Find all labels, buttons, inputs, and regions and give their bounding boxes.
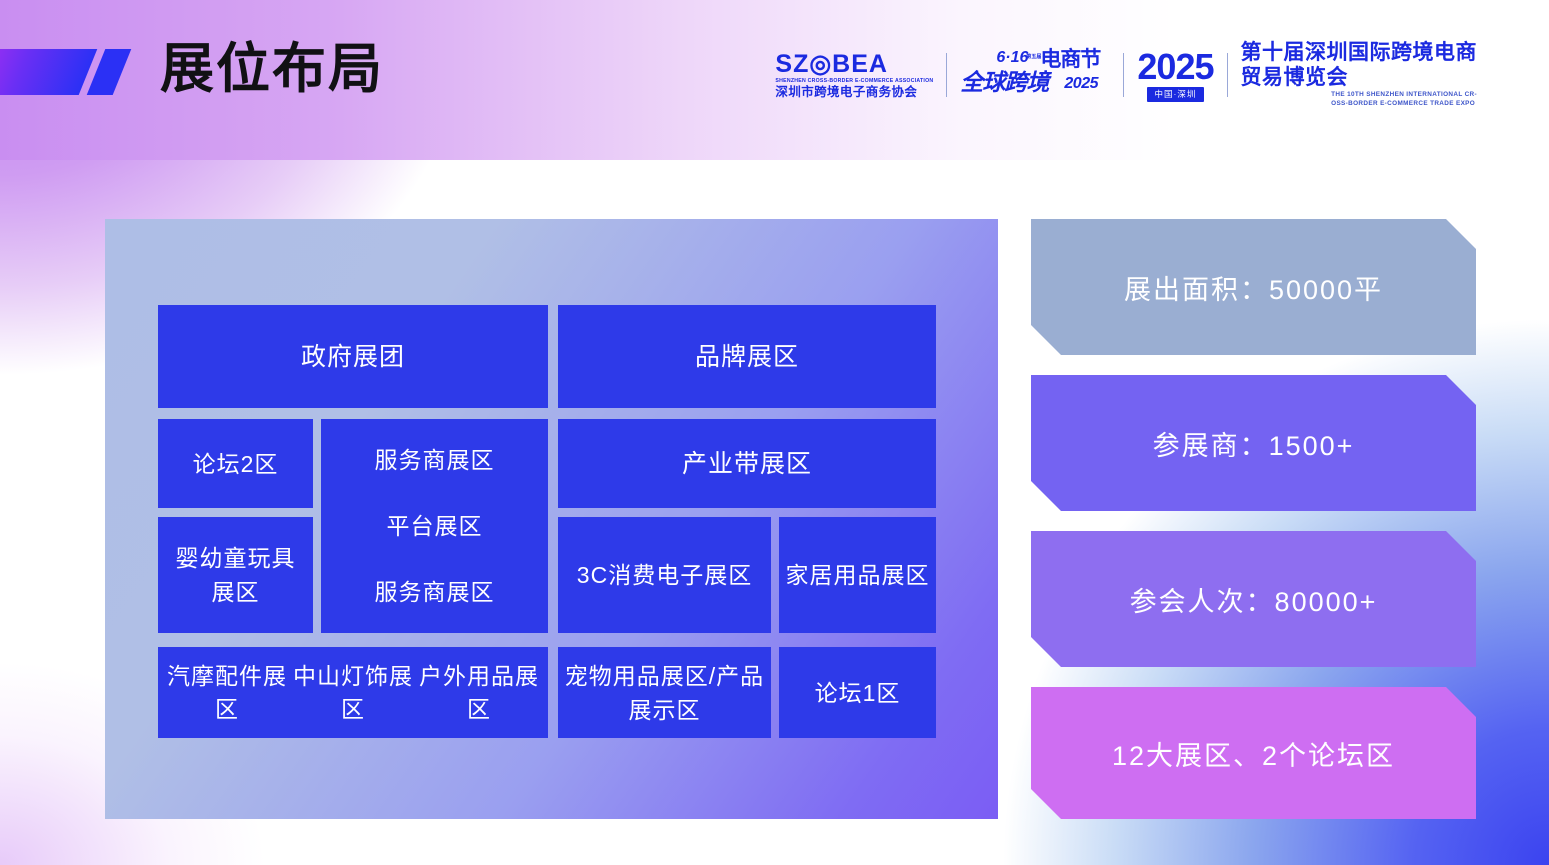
szbea-chinese: 深圳市跨境电子商务协会 — [775, 85, 933, 100]
festival-small-text: 第五届 — [1026, 54, 1041, 60]
zone-label: 论坛2区 — [193, 447, 279, 481]
zone-label: 论坛1区 — [815, 676, 901, 710]
slide-canvas: 展位布局 SZ◎BEA SHENZHEN CROSS-BORDER E-COMM… — [0, 0, 1549, 865]
expo-en-line2: OSS-BORDER E-COMMERCE TRADE EXPO — [1331, 99, 1477, 109]
zone-service-platform[interactable]: 服务商展区 平台展区 服务商展区 — [321, 419, 548, 633]
zone-label-2: 平台展区 — [387, 509, 483, 543]
zone-label: 品牌展区 — [695, 340, 799, 374]
stat-card-label: 12大展区、2个论坛区 — [1112, 734, 1395, 773]
stat-card-label: 展出面积：50000平 — [1124, 268, 1383, 307]
zone-forum1[interactable]: 论坛1区 — [779, 647, 936, 738]
festival-logo: 6·16 第五届 电商节 全球跨境 2025 — [960, 50, 1110, 100]
zone-government[interactable]: 政府展团 — [158, 305, 548, 408]
logo-divider-1 — [946, 53, 947, 97]
floorplan-panel: 政府展团 品牌展区 论坛2区 服务商展区 平台展区 服务商展区 产业带展区 婴幼… — [105, 219, 998, 819]
page-title: 展位布局 — [160, 36, 384, 102]
szbea-logo: SZ◎BEA SHENZHEN CROSS-BORDER E-COMMERCE … — [775, 51, 933, 100]
festival-line2: 全球跨境 — [960, 70, 1048, 94]
logo-divider-2 — [1123, 53, 1124, 97]
zone-label-3: 户外用品展区 — [416, 660, 542, 726]
logo-divider-3 — [1227, 53, 1228, 97]
logo-strip: SZ◎BEA SHENZHEN CROSS-BORDER E-COMMERCE … — [775, 44, 1477, 106]
szbea-english: SHENZHEN CROSS-BORDER E-COMMERCE ASSOCIA… — [775, 77, 933, 85]
stat-card-label: 参会人次：80000+ — [1130, 580, 1378, 619]
szbea-acronym: SZ◎BEA — [775, 51, 933, 77]
zone-pet-products[interactable]: 宠物用品展区/产品展示区 — [558, 647, 771, 738]
expo-logo: 第十届深圳国际跨境电商 贸易博览会 THE 10TH SHENZHEN INTE… — [1241, 40, 1478, 111]
festival-date: 6·16 — [996, 50, 1028, 66]
stat-card-zones-count[interactable]: 12大展区、2个论坛区 — [1031, 687, 1476, 819]
zone-brand[interactable]: 品牌展区 — [558, 305, 936, 408]
zone-home-goods[interactable]: 家居用品展区 — [779, 517, 936, 633]
year-mark: 2025 中国·深圳 — [1137, 49, 1213, 102]
year-mark-year: 2025 — [1137, 49, 1213, 85]
festival-year: 2025 — [1064, 75, 1098, 92]
expo-cn-line1: 第十届深圳国际跨境电商 — [1241, 40, 1478, 65]
zone-label: 婴幼童玩具展区 — [164, 541, 307, 609]
double-slash-accent-icon — [0, 49, 125, 95]
stat-card-list: 展出面积：50000平 参展商：1500+ 参会人次：80000+ 12大展区、… — [1031, 219, 1476, 819]
zone-baby-toys[interactable]: 婴幼童玩具展区 — [158, 517, 313, 633]
zone-label-2: 中山灯饰展区 — [290, 660, 416, 726]
zone-label-1: 汽摩配件展区 — [164, 660, 290, 726]
expo-cn-line2: 贸易博览会 — [1241, 65, 1478, 90]
stat-card-exhibit-area[interactable]: 展出面积：50000平 — [1031, 219, 1476, 355]
stat-card-exhibitors[interactable]: 参展商：1500+ — [1031, 375, 1476, 511]
zone-label: 3C消费电子展区 — [577, 558, 752, 592]
zone-label: 政府展团 — [301, 340, 405, 374]
zone-label-1: 服务商展区 — [375, 443, 495, 477]
year-mark-city: 中国·深圳 — [1147, 87, 1205, 102]
floorplan-grid: 政府展团 品牌展区 论坛2区 服务商展区 平台展区 服务商展区 产业带展区 婴幼… — [158, 305, 936, 738]
zone-industry-belt[interactable]: 产业带展区 — [558, 419, 936, 508]
zone-label: 家居用品展区 — [786, 558, 930, 592]
zone-label: 产业带展区 — [682, 447, 812, 481]
expo-en-line1: THE 10TH SHENZHEN INTERNATIONAL CR- — [1331, 90, 1477, 100]
zone-label-3: 服务商展区 — [375, 575, 495, 609]
zone-forum2[interactable]: 论坛2区 — [158, 419, 313, 508]
festival-line1: 电商节 — [1040, 49, 1100, 71]
stat-card-label: 参展商：1500+ — [1153, 424, 1355, 463]
zone-label: 宠物用品展区/产品展示区 — [564, 659, 765, 727]
zone-bottom-left-trio[interactable]: 汽摩配件展区 中山灯饰展区 户外用品展区 — [158, 647, 548, 738]
stat-card-attendees[interactable]: 参会人次：80000+ — [1031, 531, 1476, 667]
zone-3c-electronics[interactable]: 3C消费电子展区 — [558, 517, 771, 633]
